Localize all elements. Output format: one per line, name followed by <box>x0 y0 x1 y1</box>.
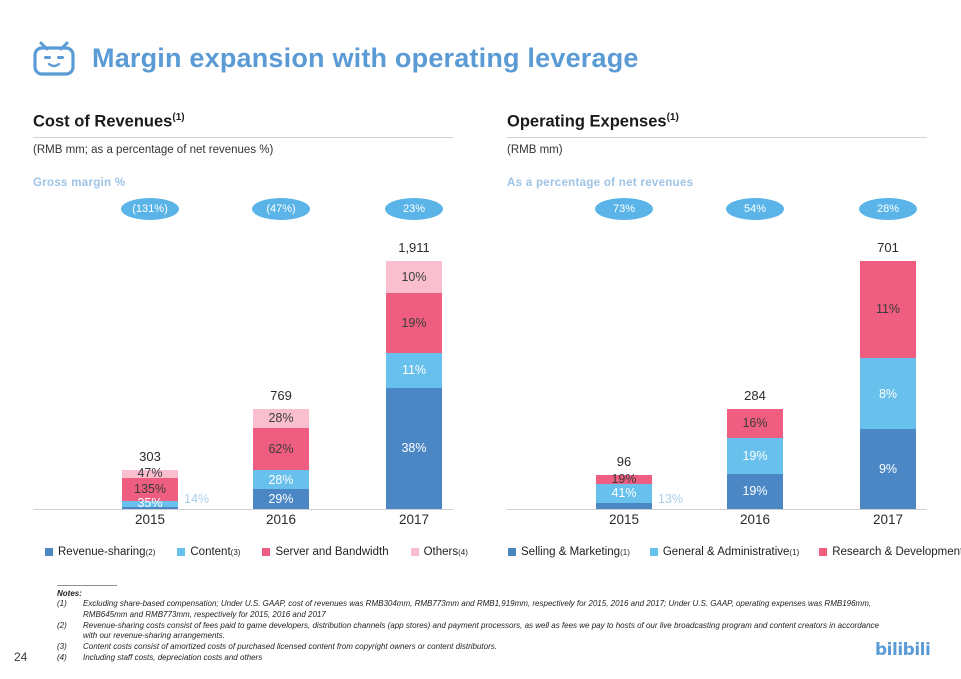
legend-label-sup: (2) <box>146 548 156 557</box>
segment-label: 29% <box>268 493 293 506</box>
right-panel-title-sup: (1) <box>667 112 679 123</box>
bar-segment-2016-server-and-bandwidth[interactable]: 62% <box>253 428 309 470</box>
note-text: Content costs consist of amortized costs… <box>83 642 887 653</box>
page-number: 24 <box>14 650 27 664</box>
segment-label: 135% <box>134 483 166 496</box>
legend-item-selling-marketing[interactable]: Selling & Marketing(1) <box>508 546 630 558</box>
left-panel-title-text: Cost of Revenues <box>33 113 172 131</box>
bar-2016[interactable]: 16%19%19% <box>727 409 783 509</box>
legend-label-sup: (1) <box>789 548 799 557</box>
bar-total-2016: 284 <box>744 388 766 403</box>
bar-segment-2015-research-development[interactable]: 19% <box>596 475 652 484</box>
left-chart-legend: Revenue-sharing(2)Content(3)Server and B… <box>45 546 490 558</box>
segment-label: 28% <box>268 412 293 425</box>
legend-swatch-icon <box>177 548 185 556</box>
cost-of-revenues-panel: Cost of Revenues(1) (RMB mm; as a percen… <box>33 112 453 189</box>
bar-segment-2016-selling-marketing[interactable]: 19% <box>727 474 783 509</box>
bar-segment-2015-others[interactable]: 47% <box>122 470 178 478</box>
outside-segment-label-2015: 14% <box>184 492 209 506</box>
bar-2017[interactable]: 10%19%11%38% <box>386 261 442 509</box>
segment-label: 19% <box>401 317 426 330</box>
segment-label: 8% <box>879 388 897 401</box>
legend-swatch-icon <box>411 548 419 556</box>
legend-label-sup: (1) <box>620 548 630 557</box>
note-number: (1) <box>57 599 83 621</box>
bar-segment-2015-selling-marketing[interactable] <box>596 503 652 509</box>
bar-segment-2017-server-and-bandwidth[interactable]: 19% <box>386 293 442 353</box>
left-x-label-2016: 2016 <box>266 512 296 527</box>
segment-label: 10% <box>401 271 426 284</box>
bar-segment-2015-general-administrative[interactable]: 41% <box>596 484 652 503</box>
left-x-label-2015: 2015 <box>135 512 165 527</box>
note-item-1: (1)Excluding share-based compensation; U… <box>57 599 887 621</box>
note-item-4: (4)Including staff costs, depreciation c… <box>57 653 887 664</box>
left-panel-subtitle: (RMB mm; as a percentage of net revenues… <box>33 144 453 156</box>
opex-pct-badges: 73%54%28% <box>507 198 927 220</box>
right-panel-subtitle: (RMB mm) <box>507 144 927 156</box>
operating-expenses-panel: Operating Expenses(1) (RMB mm) As a perc… <box>507 112 927 189</box>
gross-margin-label: Gross margin % <box>33 177 453 189</box>
right-panel-title: Operating Expenses(1) <box>507 112 927 131</box>
segment-label: 11% <box>402 364 426 377</box>
legend-label-sup: (4) <box>458 548 468 557</box>
opex-pct-badge-0: 73% <box>595 198 653 220</box>
bar-2017[interactable]: 11%8%9% <box>860 261 916 509</box>
bar-total-2015: 303 <box>139 449 161 464</box>
left-panel-title: Cost of Revenues(1) <box>33 112 453 131</box>
legend-item-general-administrative[interactable]: General & Administrative(1) <box>650 546 799 558</box>
operating-expenses-chart: 13%19%41%9616%19%19%28411%8%9%701 <box>507 225 927 510</box>
page-title: Margin expansion with operating leverage <box>92 43 639 74</box>
legend-label: Selling & Marketing <box>521 546 620 558</box>
cost-of-revenues-chart: 14%47%135%35%30328%62%28%29%76910%19%11%… <box>33 225 453 510</box>
right-x-label-2015: 2015 <box>609 512 639 527</box>
bilibili-wordmark: bilibili <box>875 640 930 660</box>
segment-label: 62% <box>268 443 293 456</box>
right-chart-x-axis-labels: 201520162017 <box>507 512 927 534</box>
gross-margin-badge-0: (131%) <box>121 198 179 220</box>
notes-list: (1)Excluding share-based compensation; U… <box>57 599 887 664</box>
note-number: (3) <box>57 642 83 653</box>
note-item-3: (3)Content costs consist of amortized co… <box>57 642 887 653</box>
bar-segment-2016-content[interactable]: 28% <box>253 470 309 489</box>
bar-segment-2017-general-administrative[interactable]: 8% <box>860 358 916 429</box>
right-panel-title-text: Operating Expenses <box>507 113 667 131</box>
legend-label: General & Administrative <box>663 546 790 558</box>
legend-label-sup: (3) <box>231 548 241 557</box>
left-panel-title-sup: (1) <box>172 112 184 123</box>
segment-label: 19% <box>742 485 767 498</box>
segment-label: 16% <box>742 417 767 430</box>
legend-swatch-icon <box>45 548 53 556</box>
note-number: (2) <box>57 621 83 643</box>
legend-swatch-icon <box>508 548 516 556</box>
note-item-2: (2)Revenue-sharing costs consist of fees… <box>57 621 887 643</box>
bar-total-2017: 1,911 <box>398 240 430 255</box>
legend-label: Research & Development <box>832 546 961 558</box>
opex-pct-badge-2: 28% <box>859 198 917 220</box>
left-chart-x-axis-labels: 201520162017 <box>33 512 453 534</box>
right-panel-divider <box>507 137 927 138</box>
bar-segment-2017-others[interactable]: 10% <box>386 261 442 293</box>
bar-segment-2017-content[interactable]: 11% <box>386 353 442 388</box>
outside-segment-label-2015: 13% <box>658 492 683 506</box>
bar-segment-2016-general-administrative[interactable]: 19% <box>727 438 783 473</box>
notes-divider <box>57 585 117 586</box>
note-number: (4) <box>57 653 83 664</box>
slide: Margin expansion with operating leverage… <box>0 0 961 679</box>
note-text: Revenue-sharing costs consist of fees pa… <box>83 621 887 643</box>
gross-margin-badges: (131%)(47%)23% <box>33 198 453 220</box>
bar-segment-2016-revenue-sharing[interactable]: 29% <box>253 489 309 509</box>
pct-net-revenues-label: As a percentage of net revenues <box>507 177 927 189</box>
right-chart-legend: Selling & Marketing(1)General & Administ… <box>508 546 961 558</box>
segment-label: 9% <box>879 463 897 476</box>
slide-header: Margin expansion with operating leverage <box>30 38 639 78</box>
legend-swatch-icon <box>262 548 270 556</box>
bar-2015[interactable]: 19%41% <box>596 475 652 509</box>
segment-label: 38% <box>401 442 426 455</box>
legend-item-server-and-bandwidth[interactable]: Server and Bandwidth <box>262 546 388 558</box>
segment-label: 41% <box>611 487 636 500</box>
bilibili-tv-icon <box>30 38 78 78</box>
legend-swatch-icon <box>650 548 658 556</box>
gross-margin-badge-1: (47%) <box>252 198 310 220</box>
bar-2015[interactable]: 47%135%35% <box>122 470 178 509</box>
left-x-label-2017: 2017 <box>399 512 429 527</box>
notes-block: Notes: (1)Excluding share-based compensa… <box>57 585 887 664</box>
right-x-label-2017: 2017 <box>873 512 903 527</box>
gross-margin-badge-2: 23% <box>385 198 443 220</box>
note-text: Excluding share-based compensation; Unde… <box>83 599 887 621</box>
legend-item-research-development[interactable]: Research & Development(1) <box>819 546 961 558</box>
legend-item-revenue-sharing[interactable]: Revenue-sharing(2) <box>45 546 155 558</box>
bar-2016[interactable]: 28%62%28%29% <box>253 409 309 509</box>
legend-item-others[interactable]: Others(4) <box>411 546 468 558</box>
notes-heading: Notes: <box>57 589 887 598</box>
legend-label: Server and Bandwidth <box>275 546 388 558</box>
note-text: Including staff costs, depreciation cost… <box>83 653 887 664</box>
right-chart-axis <box>507 509 927 510</box>
bar-segment-2015-revenue-sharing[interactable] <box>122 507 178 509</box>
legend-item-content[interactable]: Content(3) <box>177 546 240 558</box>
legend-swatch-icon <box>819 548 827 556</box>
left-panel-divider <box>33 137 453 138</box>
opex-pct-badge-1: 54% <box>726 198 784 220</box>
bar-segment-2016-others[interactable]: 28% <box>253 409 309 428</box>
bar-segment-2017-revenue-sharing[interactable]: 38% <box>386 388 442 509</box>
legend-label: Content <box>190 546 230 558</box>
legend-label: Revenue-sharing <box>58 546 146 558</box>
bar-total-2016: 769 <box>270 388 292 403</box>
bar-segment-2017-research-development[interactable]: 11% <box>860 261 916 358</box>
bar-total-2017: 701 <box>877 240 899 255</box>
bar-total-2015: 96 <box>617 454 631 469</box>
left-chart-axis <box>33 509 453 510</box>
legend-label: Others <box>424 546 459 558</box>
bar-segment-2016-research-development[interactable]: 16% <box>727 409 783 439</box>
segment-label: 19% <box>742 450 767 463</box>
segment-label: 28% <box>268 474 293 487</box>
segment-label: 11% <box>876 303 900 316</box>
right-x-label-2016: 2016 <box>740 512 770 527</box>
bar-segment-2017-selling-marketing[interactable]: 9% <box>860 429 916 509</box>
